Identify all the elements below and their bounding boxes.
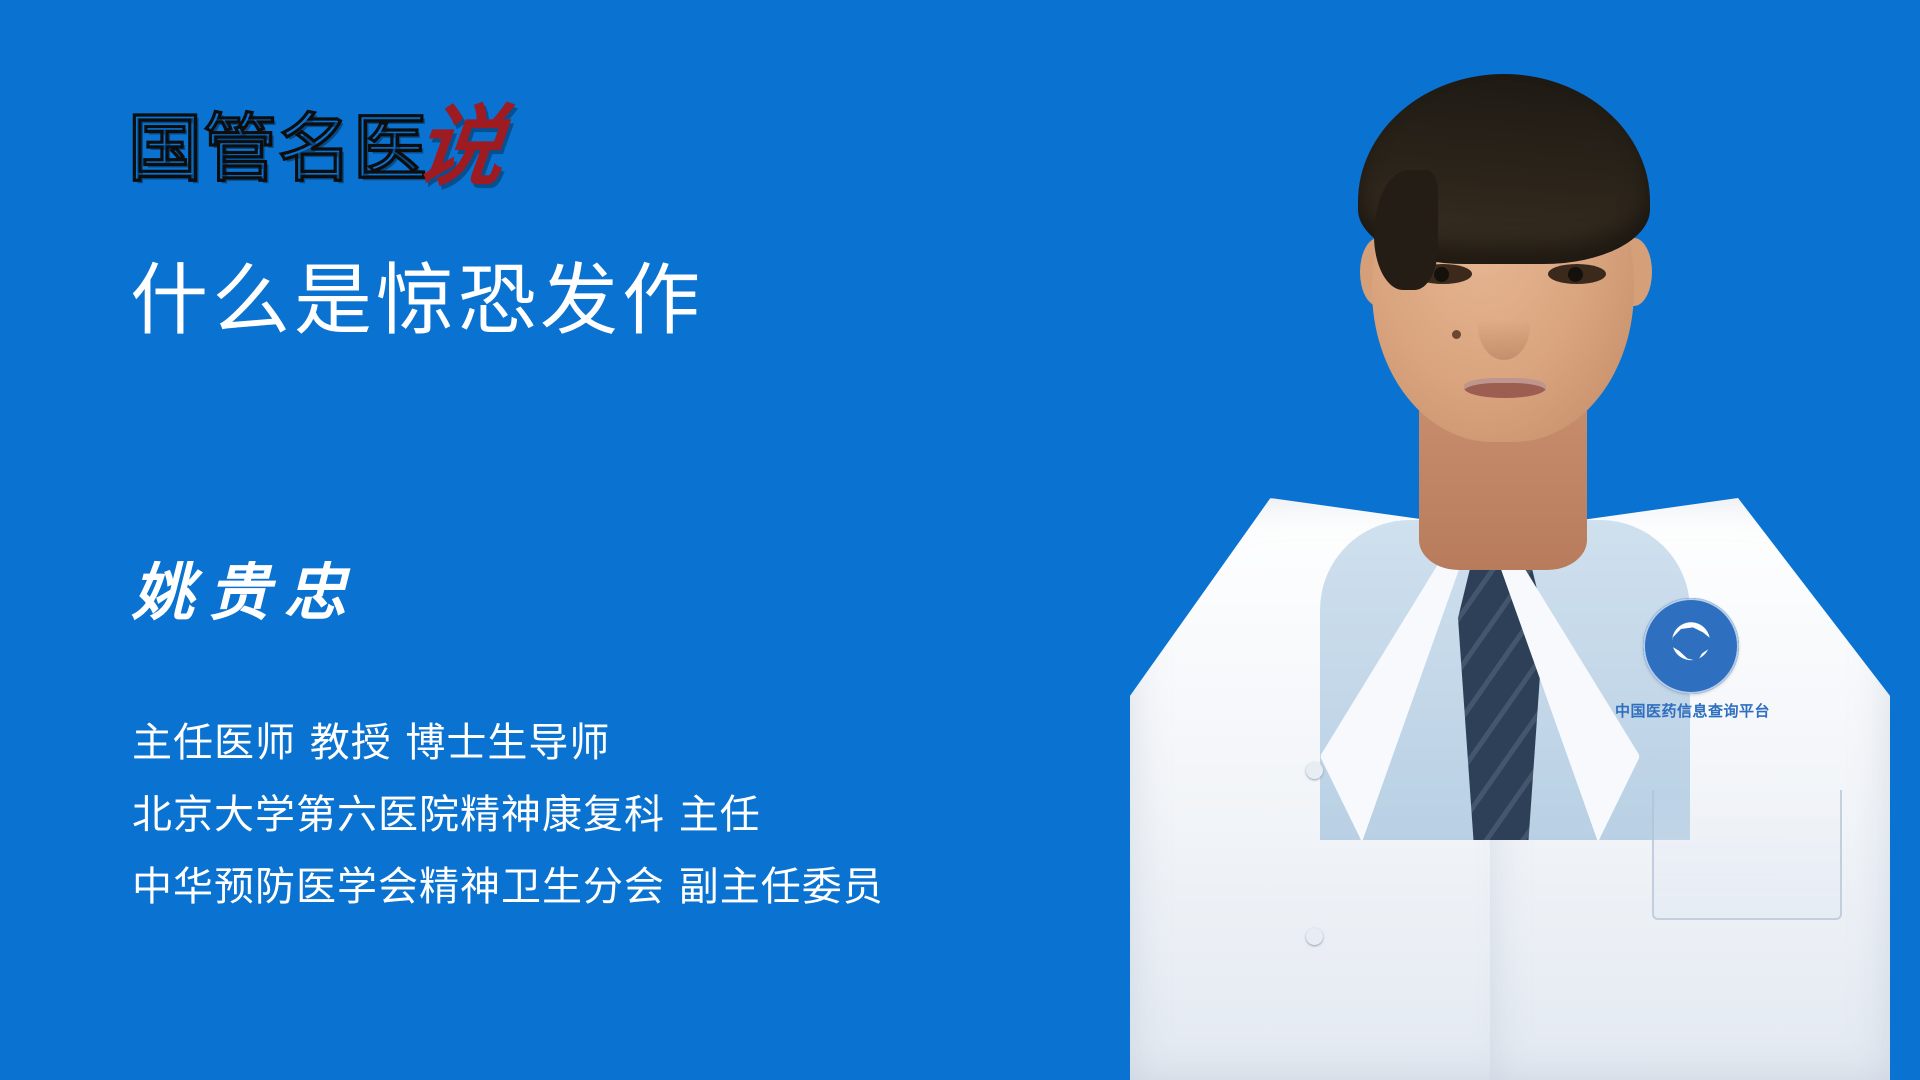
- episode-title: 什么是惊恐发作: [130, 258, 704, 345]
- credential-line-3: 中华预防医学会精神卫生分会 副主任委员: [132, 864, 884, 910]
- speaker-name: 姚贵忠: [132, 562, 360, 624]
- program-logo[interactable]: 国管名医 说: [128, 96, 504, 184]
- program-logo-main-text: 国管名医: [128, 112, 428, 186]
- program-logo-accent-text: 说: [411, 102, 508, 190]
- credential-line-1: 主任医师 教授 博士生导师: [132, 720, 884, 766]
- credential-line-2: 北京大学第六医院精神康复科 主任: [132, 792, 884, 838]
- video-title-card: 国管名医 说 什么是惊恐发作 姚贵忠 主任医师 教授 博士生导师 北京大学第六医…: [0, 0, 1920, 1080]
- speaker-credentials: 主任医师 教授 博士生导师 北京大学第六医院精神康复科 主任 中华预防医学会精神…: [132, 720, 884, 910]
